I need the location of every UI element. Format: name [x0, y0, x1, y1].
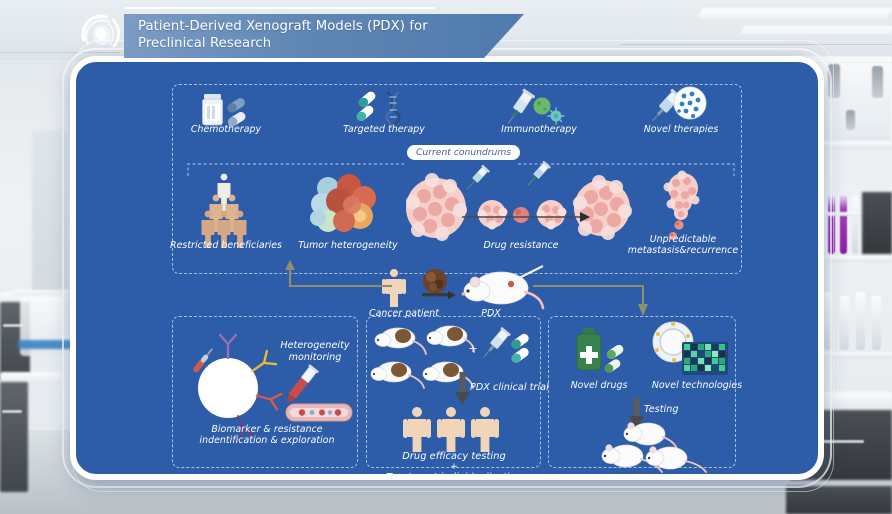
infographic-panel: Chemotherapy Targeted therapy	[70, 56, 824, 480]
spiral-emblem-icon	[72, 6, 128, 62]
metastasis-label-line2: metastasis&recurrence	[619, 245, 747, 256]
therapy-label-targeted-therapy: Targeted therapy	[329, 124, 439, 135]
glassware	[856, 292, 865, 350]
multicolor-cell-cluster-icon	[302, 174, 388, 240]
metastasis-cluster-icon	[651, 172, 715, 242]
novel-technologies-label: Novel technologies	[642, 380, 752, 391]
conundrum-label-restricted-beneficiaries: Restricted beneficiaries	[166, 240, 286, 251]
faucet	[872, 66, 883, 98]
glassware	[872, 296, 881, 350]
blood-vessel-sample-icon	[278, 364, 354, 426]
medicine-bottle-icon	[568, 326, 630, 380]
conundrum-label-tumor-heterogeneity: Tumor heterogeneity	[288, 240, 408, 251]
page-title: Patient-Derived Xenograft Models (PDX) f…	[124, 19, 428, 53]
ceiling-light	[697, 8, 892, 18]
test-tube	[852, 196, 858, 254]
flow-arrow-down-right	[531, 258, 661, 320]
therapy-label-chemotherapy: Chemotherapy	[171, 124, 281, 135]
people-pyramid-icon	[189, 172, 259, 238]
heterogeneity-monitoring-label: Heterogeneity monitoring	[272, 340, 358, 363]
metastasis-label-line1: Unpredictable	[619, 234, 747, 245]
title-accent-line-2	[442, 58, 583, 60]
cabinet	[0, 382, 28, 492]
page-title-line2: Preclinical Research	[138, 36, 428, 53]
page-title-line1: Patient-Derived Xenograft Models (PDX) f…	[138, 19, 428, 36]
treatment-individualization-label: Treatment individualization	[362, 472, 546, 484]
antibody-cell-icon	[184, 332, 280, 428]
conundrum-label-unpredictable-metastasis: Unpredictable metastasis&recurrence	[619, 234, 747, 257]
syringe-capsules-icon	[480, 326, 538, 374]
biomarker-label-line2: indentification & exploration	[174, 435, 360, 446]
therapy-label-novel-therapies: Novel therapies	[626, 124, 736, 135]
three-human-figures-icon	[400, 406, 506, 454]
petri-microarray-icon	[646, 320, 730, 380]
heterogeneity-label-line1: Heterogeneity	[272, 340, 358, 352]
glassware	[840, 296, 849, 350]
tumor-biopsy-icon	[418, 267, 456, 305]
title-accent-line	[125, 7, 435, 9]
testing-label: Testing	[644, 404, 704, 416]
novel-drugs-label: Novel drugs	[554, 380, 644, 391]
page-title-banner: Patient-Derived Xenograft Models (PDX) f…	[124, 14, 524, 58]
test-tube	[840, 196, 847, 254]
biomarker-main-label: Biomarker & resistance indentification &…	[174, 424, 360, 447]
flow-arrow-up-left	[274, 258, 394, 304]
tumor-regrowth-sequence-icon	[404, 162, 634, 248]
ceiling-light	[740, 26, 892, 34]
heterogeneity-label-line2: monitoring	[272, 352, 358, 364]
three-mice-icon	[600, 420, 710, 472]
plus-sign-trial: +	[466, 342, 480, 355]
therapy-label-immunotherapy: Immunotherapy	[484, 124, 594, 135]
faucet	[846, 110, 855, 130]
cabinet	[862, 192, 892, 254]
conundrum-label-drug-resistance: Drug resistance	[466, 240, 576, 251]
cabinet-handle	[2, 410, 22, 413]
